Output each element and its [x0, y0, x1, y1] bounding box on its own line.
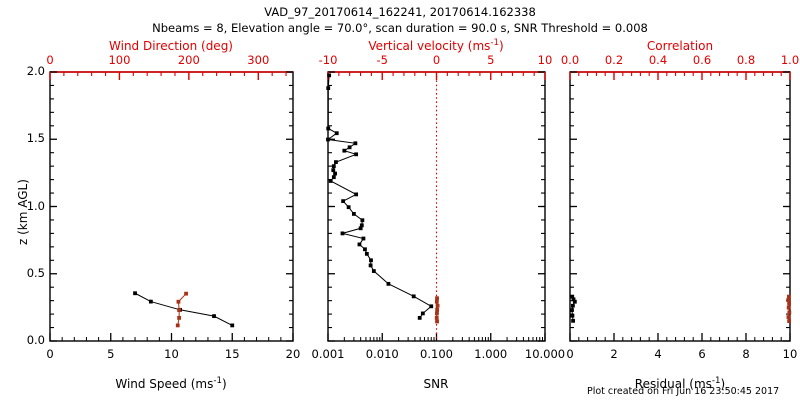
data-point	[429, 304, 433, 308]
data-point	[341, 232, 345, 236]
series-line-wind-bottom	[135, 293, 232, 325]
x-tick-label-snr-3: 1.000	[474, 347, 507, 361]
y-tick-label-3: 1.5	[27, 131, 45, 145]
data-point	[787, 302, 791, 306]
data-point	[133, 291, 137, 295]
data-point	[184, 292, 188, 296]
data-point	[571, 319, 575, 323]
data-point	[369, 258, 373, 262]
data-point	[176, 324, 180, 328]
data-point	[332, 175, 336, 179]
data-point	[435, 312, 439, 316]
data-point	[787, 311, 791, 315]
x-tick-label-wind-4: 20	[286, 347, 301, 361]
x-top-tick-label-snr-0: -10	[319, 53, 338, 67]
data-point	[365, 252, 369, 256]
x-top-tick-label-snr-3: 5	[487, 53, 494, 67]
x-tick-label-residual-3: 6	[698, 347, 705, 361]
data-point	[326, 86, 330, 90]
x-top-tick-label-residual-3: 0.6	[693, 53, 711, 67]
x-top-tick-label-residual-2: 0.4	[649, 53, 667, 67]
data-point	[327, 73, 331, 77]
x-top-tick-label-residual-4: 0.8	[737, 53, 755, 67]
data-point	[230, 324, 234, 328]
data-point	[177, 300, 181, 304]
data-point	[787, 295, 791, 299]
data-point	[329, 179, 333, 183]
x-tick-label-wind-1: 5	[107, 347, 114, 361]
x-tick-label-snr-2: 0.100	[420, 347, 453, 361]
data-point	[358, 243, 362, 247]
data-point	[348, 145, 352, 149]
data-point	[435, 320, 439, 324]
data-point	[387, 282, 391, 286]
data-point	[412, 294, 416, 298]
data-point	[352, 212, 356, 216]
vad-plot-figure: VAD_97_20170614_162241, 20170614.162338 …	[0, 0, 800, 400]
x-top-tick-label-snr-1: -5	[377, 53, 388, 67]
panel-frame-residual	[570, 72, 790, 341]
data-point	[573, 300, 577, 304]
data-point	[335, 131, 339, 135]
data-point	[177, 316, 181, 320]
x-tick-label-snr-1: 0.010	[366, 347, 399, 361]
x-tick-label-residual-0: 0	[566, 347, 573, 361]
x-top-tick-label-wind-1: 100	[108, 53, 130, 67]
y-tick-label-1: 0.5	[27, 266, 45, 280]
data-point	[418, 316, 422, 320]
x-tick-label-wind-3: 15	[225, 347, 240, 361]
panel-frame-wind	[50, 72, 293, 341]
x-top-tick-label-residual-5: 1.0	[781, 53, 799, 67]
data-point	[571, 314, 575, 318]
data-point	[369, 264, 373, 268]
data-point	[341, 199, 345, 203]
data-point	[332, 164, 336, 168]
x-top-tick-label-snr-2: 0	[433, 53, 440, 67]
data-point	[786, 298, 790, 302]
x-top-tick-label-snr-4: 10	[538, 53, 553, 67]
data-point	[363, 247, 367, 251]
y-tick-label-0: 0.0	[27, 333, 45, 347]
data-point	[362, 237, 366, 241]
y-tick-label-4: 2.0	[27, 64, 45, 78]
x-tick-label-residual-1: 2	[610, 347, 617, 361]
data-point	[435, 296, 439, 300]
series-line-snr-bottom	[328, 75, 431, 318]
x-top-tick-label-wind-0: 0	[46, 53, 53, 67]
data-point	[787, 319, 791, 323]
data-point	[435, 308, 439, 312]
data-point	[354, 141, 358, 145]
data-point	[342, 149, 346, 153]
data-point	[354, 192, 358, 196]
generated-graphics	[50, 72, 791, 341]
data-point	[334, 160, 338, 164]
data-point	[177, 308, 181, 312]
data-point	[435, 300, 439, 304]
data-point	[331, 168, 335, 172]
data-point	[570, 308, 574, 312]
data-point	[571, 304, 575, 308]
x-tick-label-residual-2: 4	[654, 347, 661, 361]
x-tick-label-snr-0: 0.001	[312, 347, 345, 361]
x-tick-label-residual-5: 10	[783, 347, 798, 361]
x-top-tick-label-residual-0: 0.0	[561, 53, 579, 67]
data-point	[421, 312, 425, 316]
data-point	[787, 306, 791, 310]
data-point	[436, 304, 440, 308]
x-top-tick-label-wind-2: 200	[178, 53, 200, 67]
data-point	[326, 138, 330, 142]
x-tick-label-wind-0: 0	[46, 347, 53, 361]
data-point	[354, 152, 358, 156]
data-point	[372, 269, 376, 273]
x-tick-label-snr-4: 10.000	[525, 347, 565, 361]
data-point	[347, 205, 351, 209]
x-top-tick-label-residual-1: 0.2	[605, 53, 623, 67]
data-point	[435, 316, 439, 320]
x-tick-label-wind-2: 10	[164, 347, 179, 361]
x-top-tick-label-wind-3: 300	[247, 53, 269, 67]
data-point	[787, 315, 791, 319]
y-tick-label-2: 1.0	[27, 199, 45, 213]
data-point	[212, 314, 216, 318]
data-point	[149, 300, 153, 304]
data-point	[326, 127, 330, 131]
data-point	[360, 218, 364, 222]
x-tick-label-residual-4: 8	[742, 347, 749, 361]
data-point	[333, 172, 337, 176]
data-point	[359, 226, 363, 230]
